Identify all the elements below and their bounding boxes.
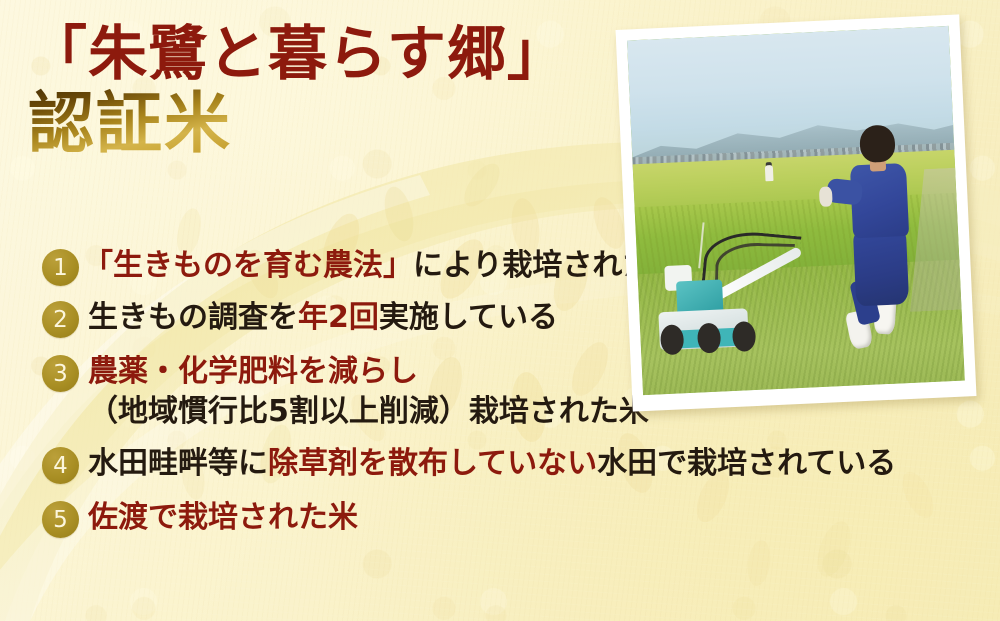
criteria-3-line-2: （地域慣行比5割以上削減）栽培された米 bbox=[88, 392, 649, 432]
criteria-badge-1: 1 bbox=[42, 249, 79, 286]
mower-wheel-3 bbox=[732, 321, 756, 352]
poster-root: 「朱鷺と暮らす郷」 認証米 bbox=[0, 0, 1000, 621]
field-photo bbox=[616, 14, 977, 411]
criteria-2-seg-2: 年2回 bbox=[298, 300, 379, 335]
photo-frame bbox=[616, 14, 977, 411]
photo-image bbox=[627, 26, 965, 395]
criteria-text-5: 佐渡で栽培された米 bbox=[88, 498, 358, 538]
criteria-4-seg-3: 水田で栽培されている bbox=[597, 446, 896, 481]
farmer-glove bbox=[819, 187, 833, 207]
criteria-5-seg-1: 佐渡で栽培された米 bbox=[88, 500, 358, 535]
criteria-4-seg-2: 除草剤を散布していない bbox=[268, 446, 597, 481]
criteria-2-seg-1: 生きもの調査を bbox=[88, 300, 298, 335]
criteria-3-line-1: 農薬・化学肥料を減らし bbox=[88, 352, 649, 392]
criteria-badge-4: 4 bbox=[42, 447, 79, 484]
criteria-text-3: 農薬・化学肥料を減らし（地域慣行比5割以上削減）栽培された米 bbox=[88, 352, 649, 431]
farmer-pants bbox=[853, 230, 909, 307]
criteria-badge-3: 3 bbox=[42, 355, 79, 392]
criteria-1-seg-1: 「生きものを育む農法」 bbox=[83, 248, 413, 283]
farmer-head bbox=[859, 124, 896, 163]
poster-title: 「朱鷺と暮らす郷」 認証米 bbox=[28, 24, 567, 161]
criteria-text-4: 水田畦畔等に除草剤を散布していない水田で栽培されている bbox=[88, 444, 896, 484]
title-line-2: 認証米 bbox=[28, 87, 567, 161]
photo-distant-person bbox=[765, 165, 774, 181]
criteria-item-5: 5 佐渡で栽培された米 bbox=[42, 498, 972, 538]
photo-lawn-mower bbox=[652, 236, 792, 356]
criteria-badge-2: 2 bbox=[42, 301, 79, 338]
criteria-badge-5: 5 bbox=[42, 501, 79, 538]
criteria-4-seg-1: 水田畦畔等に bbox=[88, 446, 268, 481]
photo-farmer bbox=[828, 124, 922, 348]
mower-wheel-2 bbox=[697, 323, 721, 354]
title-line-1: 「朱鷺と暮らす郷」 bbox=[28, 24, 567, 83]
criteria-item-4: 4 水田畦畔等に除草剤を散布していない水田で栽培されている bbox=[42, 444, 972, 484]
mower-wheel-1 bbox=[660, 325, 684, 356]
criteria-2-seg-3: 実施している bbox=[379, 300, 558, 335]
criteria-text-2: 生きもの調査を年2回実施している bbox=[88, 298, 558, 338]
criteria-text-1: 「生きものを育む農法」により栽培されたもの bbox=[83, 246, 712, 286]
